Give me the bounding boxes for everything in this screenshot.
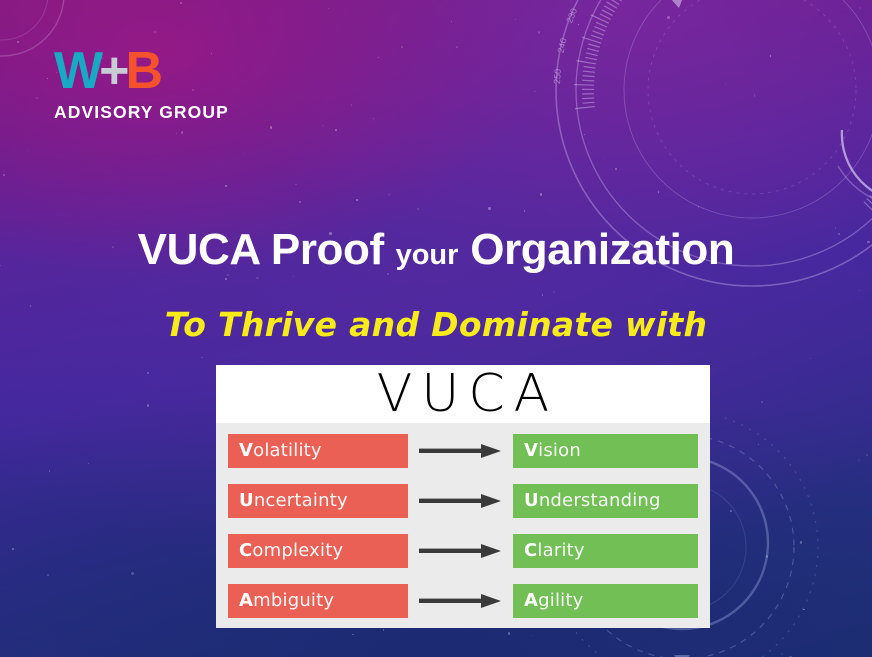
star-speck (524, 210, 526, 212)
star-speck (201, 357, 202, 358)
star-speck (176, 133, 177, 134)
vuca-diagram-body: VolatilityVisionUncertaintyUnderstanding… (216, 423, 710, 628)
arrow-right-icon (419, 442, 503, 460)
star-speck (352, 634, 353, 635)
star-speck (584, 134, 585, 135)
vuca-solution-label: ision (538, 442, 581, 460)
star-speck (293, 276, 295, 278)
star-speck (488, 207, 490, 209)
vuca-problem-initial: V (239, 442, 253, 460)
star-speck (47, 574, 49, 576)
star-speck (550, 209, 551, 210)
vuca-solution-initial: U (524, 492, 539, 510)
star-speck (131, 572, 134, 575)
star-speck (225, 278, 226, 279)
vuca-solution-chip: Clarity (513, 534, 698, 568)
star-speck (28, 150, 29, 151)
star-speck (417, 208, 419, 210)
vuca-solution-chip: Vision (513, 434, 698, 468)
star-speck (295, 184, 296, 185)
vuca-problem-chip: Uncertainty (228, 484, 408, 518)
title-segment-your: your (396, 239, 459, 271)
star-speck (225, 185, 227, 187)
vuca-solution-initial: V (524, 442, 538, 460)
star-speck (3, 174, 5, 176)
star-speck (328, 8, 329, 9)
star-speck (17, 41, 19, 43)
star-speck (270, 126, 272, 128)
vuca-problem-chip: Volatility (228, 434, 408, 468)
star-speck (154, 31, 156, 33)
star-speck (698, 206, 699, 207)
vuca-solution-label: gility (538, 592, 583, 610)
star-speck (30, 305, 31, 306)
dial-tick-label: 240 (556, 37, 569, 54)
star-speck (356, 199, 357, 200)
star-speck (754, 94, 755, 95)
vuca-problem-initial: C (239, 542, 252, 560)
slide-subtitle: To Thrive and Dominate with (0, 308, 872, 341)
star-speck (603, 158, 604, 159)
star-speck (378, 57, 379, 58)
arrow-right-icon (419, 592, 503, 610)
vuca-row: VolatilityVision (228, 434, 698, 468)
star-speck (761, 401, 763, 403)
star-speck (47, 78, 48, 79)
star-speck (451, 21, 452, 22)
star-speck (181, 131, 183, 133)
star-speck (578, 24, 579, 25)
vuca-solution-initial: C (524, 542, 537, 560)
vuca-solution-label: nderstanding (539, 492, 661, 510)
star-speck (256, 277, 258, 279)
presentation-slide: 250240230220210200190180 W+B ADVISORY GR… (0, 0, 872, 657)
vuca-problem-label: ncertainty (254, 492, 348, 510)
vuca-row: AmbiguityAgility (228, 584, 698, 618)
arrow-right-icon (419, 542, 503, 560)
title-segment-1: VUCA Proof (138, 225, 396, 274)
vuca-problem-label: omplexity (252, 542, 343, 560)
star-speck (538, 31, 541, 34)
vuca-problem-chip: Ambiguity (228, 584, 408, 618)
star-speck (766, 555, 768, 557)
star-speck (147, 372, 149, 374)
vuca-heading-text: VUCA (368, 368, 559, 420)
star-speck (388, 193, 391, 196)
vuca-problem-initial: U (239, 492, 254, 510)
logo-tagline: ADVISORY GROUP (54, 104, 229, 122)
star-speck (243, 152, 244, 153)
vuca-solution-label: larity (537, 542, 584, 560)
vuca-solution-chip: Agility (513, 584, 698, 618)
vuca-arrow-cell (408, 492, 513, 510)
vuca-arrow-cell (408, 442, 513, 460)
star-speck (12, 548, 14, 550)
arrow-right-icon (419, 492, 503, 510)
vuca-problem-label: olatility (253, 442, 322, 460)
vuca-solution-chip: Understanding (513, 484, 698, 518)
vuca-solution-initial: A (524, 592, 538, 610)
star-speck (147, 404, 150, 407)
star-speck (859, 290, 860, 291)
vuca-problem-label: mbiguity (253, 592, 334, 610)
vuca-diagram-header: VUCA (216, 365, 710, 423)
star-speck (658, 191, 659, 192)
star-speck (532, 635, 533, 636)
star-speck (725, 84, 726, 85)
star-speck (758, 444, 759, 445)
star-speck (180, 2, 182, 4)
logo-letter-w: W (54, 42, 102, 100)
star-speck (540, 193, 542, 195)
star-speck (542, 294, 544, 296)
star-speck (299, 201, 300, 202)
vuca-problem-initial: A (239, 592, 253, 610)
star-speck (859, 7, 861, 9)
star-speck (36, 97, 37, 98)
logo-wordmark: W+B (54, 45, 229, 97)
star-speck (667, 16, 669, 18)
star-speck (515, 19, 516, 20)
star-speck (770, 55, 771, 56)
vuca-arrow-cell (408, 542, 513, 560)
star-speck (781, 653, 783, 655)
brand-logo: W+B ADVISORY GROUP (54, 45, 229, 122)
star-speck (60, 178, 61, 179)
vuca-diagram-card: VUCA VolatilityVisionUncertaintyUndersta… (216, 365, 710, 628)
star-speck (615, 168, 617, 170)
vuca-problem-chip: Complexity (228, 534, 408, 568)
star-speck (866, 454, 868, 456)
logo-letter-b: B (125, 42, 162, 100)
star-speck (534, 91, 536, 93)
star-speck (754, 95, 756, 97)
vuca-row: UncertaintyUnderstanding (228, 484, 698, 518)
dial-tick-label: 230 (564, 7, 579, 25)
star-speck (49, 470, 50, 471)
star-speck (88, 463, 89, 464)
star-speck (401, 46, 403, 48)
vuca-row: ComplexityClarity (228, 534, 698, 568)
star-speck (383, 629, 385, 631)
star-speck (810, 358, 811, 359)
star-speck (730, 510, 732, 512)
star-speck (351, 104, 353, 106)
star-speck (335, 129, 337, 131)
star-speck (373, 118, 374, 119)
star-speck (553, 291, 555, 293)
star-speck (800, 541, 802, 543)
star-speck (803, 609, 805, 611)
title-segment-2: Organization (458, 225, 734, 274)
vuca-arrow-cell (408, 592, 513, 610)
dial-tick-label: 250 (552, 69, 563, 85)
star-speck (456, 46, 458, 48)
star-speck (322, 125, 323, 126)
star-speck (227, 274, 229, 276)
slide-title: VUCA Proof your Organization (0, 228, 872, 272)
star-speck (508, 632, 510, 634)
star-speck (858, 459, 860, 461)
